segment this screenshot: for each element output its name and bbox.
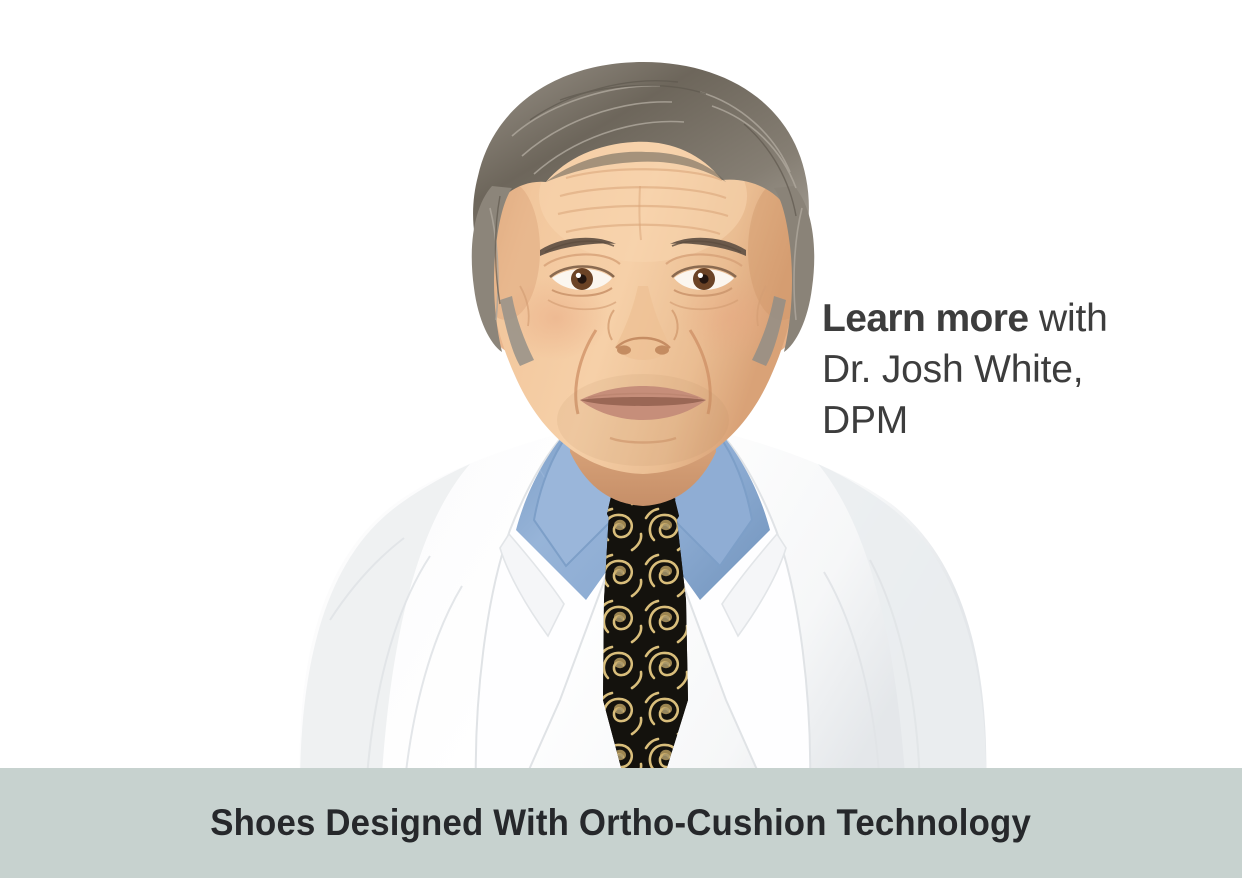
headline-emphasis: Learn more — [822, 297, 1028, 340]
bottom-banner-text: Shoes Designed With Ortho-Cushion Techno… — [211, 802, 1032, 844]
promo-banner-root: Learn more with Dr. Josh White, DPM Shoe… — [0, 0, 1242, 878]
bottom-banner: Shoes Designed With Ortho-Cushion Techno… — [0, 768, 1242, 878]
headline-text: Learn more with Dr. Josh White, DPM — [822, 293, 1162, 446]
